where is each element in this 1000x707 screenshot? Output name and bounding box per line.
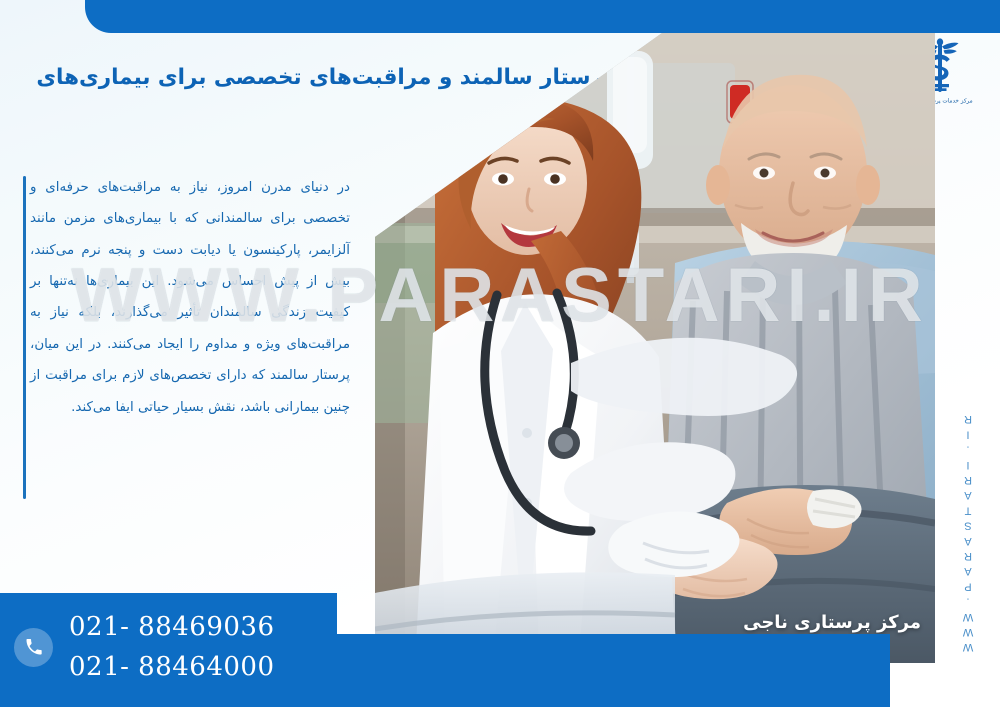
article-paragraph: در دنیای مدرن امروز، نیاز به مراقبت‌های … — [30, 172, 350, 423]
phone-glyph — [24, 637, 44, 657]
contact-phones[interactable]: 021- 88469036 021- 88464000 — [0, 597, 337, 697]
website-url-vertical: WWW.PARASTARI.IR — [962, 410, 996, 653]
hero-photo-artwork — [375, 33, 935, 663]
phone-number-2[interactable]: 021- 88464000 — [69, 652, 275, 682]
phone-number-1[interactable]: 021- 88469036 — [69, 612, 275, 642]
photo-caption: مرکز پرستاری ناجی — [743, 612, 921, 633]
article-body: در دنیای مدرن امروز، نیاز به مراقبت‌های … — [30, 172, 350, 423]
page-title: پرستار سالمند و مراقبت‌های تخصصی برای بی… — [0, 62, 612, 124]
phone-numbers[interactable]: 021- 88469036 021- 88464000 — [69, 607, 275, 688]
page-title-text: پرستار سالمند و مراقبت‌های تخصصی برای بی… — [0, 62, 612, 124]
phone-icon — [14, 628, 53, 667]
poster-canvas: مرکز خدمات پرستاری ناجی پرستار سالمند و … — [0, 0, 1000, 707]
top-accent-bar — [85, 0, 1000, 33]
hero-photo: مرکز پرستاری ناجی — [375, 33, 935, 663]
text-accent-rule — [23, 176, 26, 499]
